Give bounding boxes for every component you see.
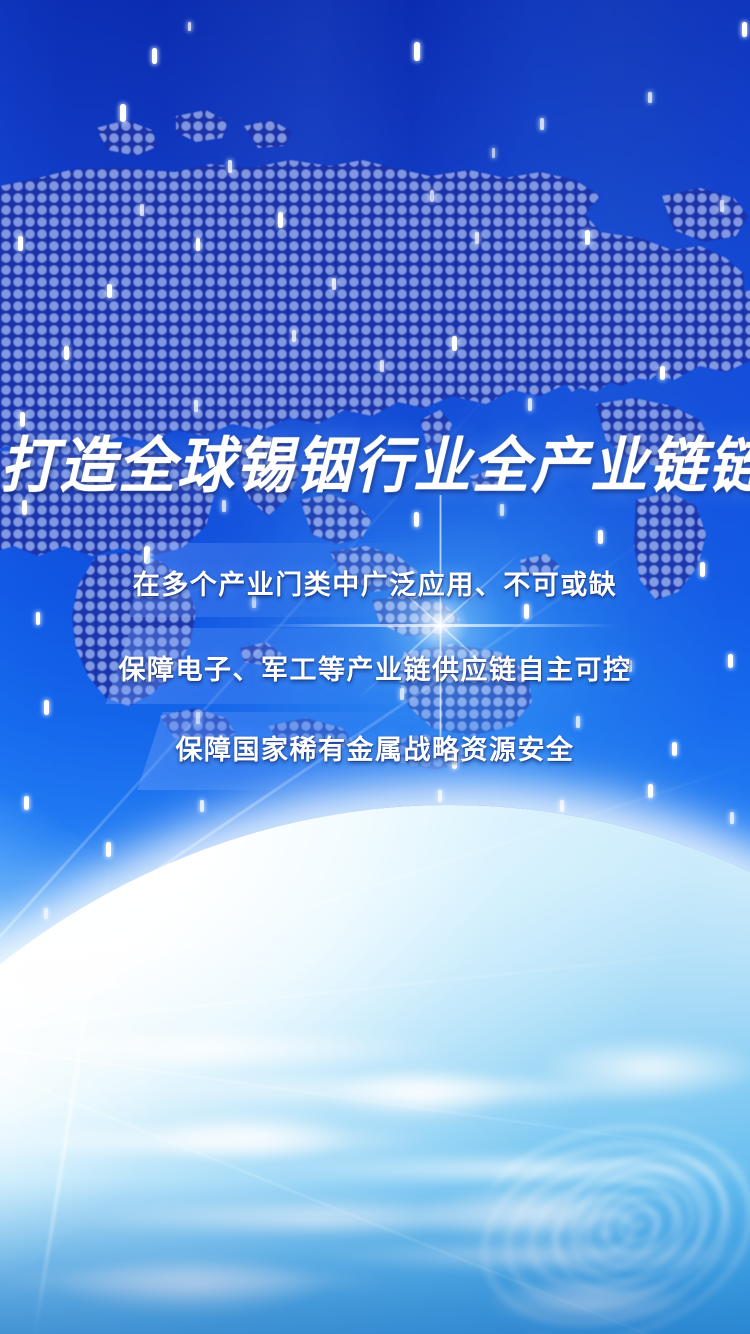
subtitle-line-3: 保障国家稀有金属战略资源安全 [0,728,750,767]
poster-canvas: 打造全球锡铟行业全产业链链主 在多个产业门类中广泛应用、不可或缺 保障电子、军工… [0,0,750,1334]
page-title: 打造全球锡铟行业全产业链链主 [0,418,750,505]
subtitle-line-1: 在多个产业门类中广泛应用、不可或缺 [0,563,750,602]
ocean-shade [0,1180,750,1334]
subtitle-line-2: 保障电子、军工等产业链供应链自主可控 [0,648,750,687]
